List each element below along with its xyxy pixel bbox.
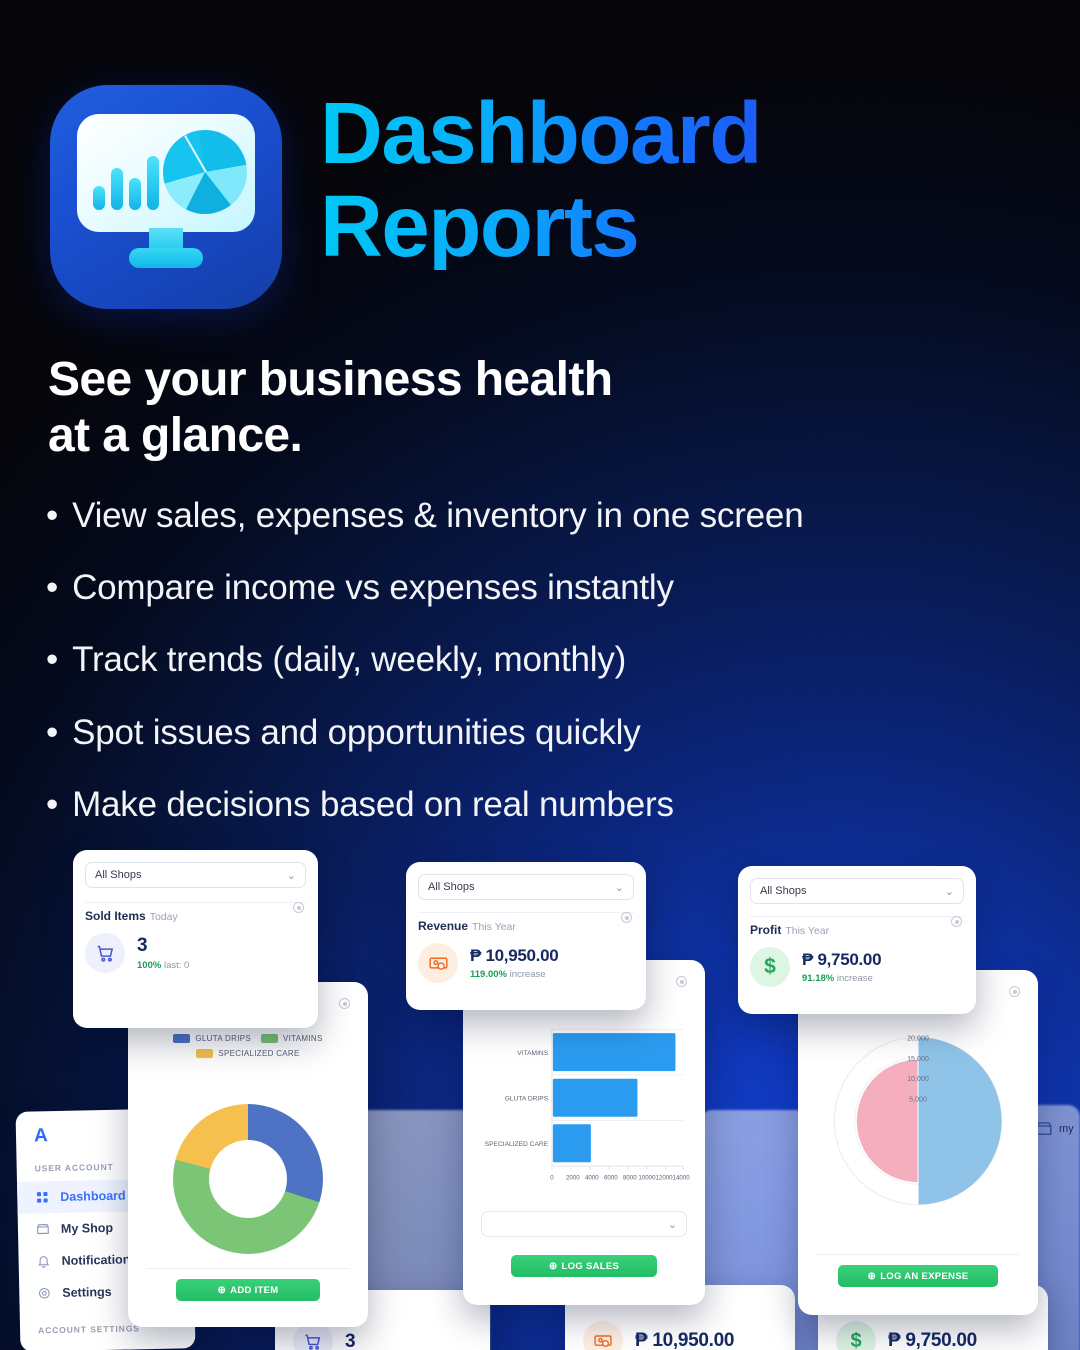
- bullet-text: Compare income vs expenses instantly: [72, 568, 674, 607]
- bullet-marker: •: [46, 785, 58, 824]
- stat-change: 119.00% increase: [470, 969, 558, 980]
- bullet-marker: •: [46, 713, 58, 752]
- svg-text:0: 0: [550, 1174, 554, 1181]
- shop-select-value: All Shops: [760, 885, 806, 897]
- stat-period: This Year: [785, 925, 829, 937]
- stat-card-sold-items[interactable]: All Shops ⌄ Sold ItemsToday 3: [73, 850, 318, 1028]
- chevron-down-icon: ⌄: [287, 869, 296, 882]
- horizontal-bar-chart: VITAMINS GLUTA DRIPS SPECIALIZED CARE 02…: [475, 1016, 703, 1206]
- svg-text:12000: 12000: [655, 1174, 673, 1181]
- category-donut-card[interactable]: GLUTA DRIPS VITAMINS SPECIALIZED CARE ⊕ …: [128, 982, 368, 1327]
- gear-icon[interactable]: [621, 912, 632, 923]
- svg-text:14000: 14000: [673, 1174, 691, 1181]
- svg-text:20,000: 20,000: [907, 1034, 929, 1042]
- dashboard-monitor-icon: [50, 85, 282, 309]
- stat-label: Sold Items: [85, 909, 146, 923]
- grid-icon: [35, 1190, 49, 1204]
- page-headline: See your business health at a glance.: [48, 352, 612, 464]
- bar-category-label: SPECIALIZED CARE: [485, 1141, 549, 1148]
- stat-value: 3: [137, 935, 189, 957]
- gear-icon[interactable]: [1009, 986, 1020, 997]
- donut-legend: GLUTA DRIPS VITAMINS SPECIALIZED CARE: [138, 1034, 358, 1058]
- svg-text:10,000: 10,000: [907, 1075, 929, 1083]
- banknote-icon: [593, 1331, 613, 1350]
- feature-bullet-list: • View sales, expenses & inventory in on…: [46, 496, 1036, 857]
- list-item: • View sales, expenses & inventory in on…: [46, 496, 1036, 535]
- gear-icon[interactable]: [293, 902, 304, 913]
- stat-change-pct: 100%: [137, 960, 161, 971]
- bullet-marker: •: [46, 640, 58, 679]
- bullet-text: Track trends (daily, weekly, monthly): [72, 640, 626, 679]
- add-item-button[interactable]: ⊕ ADD ITEM: [176, 1279, 320, 1301]
- expense-polar-chart-card[interactable]: labor material 20,000 15,000 10,000: [798, 970, 1038, 1315]
- stat-label: Profit: [750, 923, 781, 937]
- dollar-sign-icon: $: [764, 955, 776, 979]
- shopping-cart-icon: [303, 1332, 323, 1350]
- stat-card-revenue[interactable]: All Shops ⌄ RevenueThis Year ₱ 10,950.00: [406, 862, 646, 1010]
- legend-label: SPECIALIZED CARE: [218, 1049, 299, 1058]
- log-expense-button[interactable]: ⊕ LOG AN EXPENSE: [838, 1265, 998, 1287]
- bullet-marker: •: [46, 568, 58, 607]
- shopping-cart-icon: [95, 943, 116, 964]
- bullet-text: View sales, expenses & inventory in one …: [72, 496, 803, 535]
- shop-select-sold-items[interactable]: All Shops ⌄: [85, 862, 306, 888]
- plus-icon: ⊕: [217, 1285, 226, 1296]
- bar-chart-glyph: [93, 156, 159, 210]
- sidebar-item-label: Settings: [62, 1285, 112, 1300]
- list-item: • Compare income vs expenses instantly: [46, 568, 1036, 607]
- stat-change: 91.18% increase: [802, 973, 881, 984]
- list-item: • Track trends (daily, weekly, monthly): [46, 640, 1036, 679]
- divider: [750, 916, 964, 917]
- donut-chart: [173, 1104, 323, 1254]
- stat-value: ₱ 9,750.00: [888, 1330, 977, 1350]
- stat-card-profit[interactable]: All Shops ⌄ ProfitThis Year $ ₱ 9,750.00…: [738, 866, 976, 1014]
- legend-item: GLUTA DRIPS: [173, 1034, 251, 1043]
- headline-line-2: at a glance.: [48, 408, 612, 464]
- stat-value: ₱ 10,950.00: [635, 1330, 734, 1350]
- gear-icon[interactable]: [951, 916, 962, 927]
- svg-text:2000: 2000: [566, 1174, 580, 1181]
- monitor-base: [129, 248, 203, 268]
- bar-axis-ticks: 020004000 6000800010000 1200014000: [550, 1174, 690, 1181]
- stat-change-note: last: 0: [164, 960, 189, 971]
- title-line-1: Dashboard: [320, 91, 761, 176]
- list-item: • Make decisions based on real numbers: [46, 785, 1036, 824]
- brand-header: Dashboard Reports: [50, 85, 761, 309]
- legend-item: VITAMINS: [261, 1034, 323, 1043]
- chart-filter-select[interactable]: ⌄: [481, 1211, 687, 1237]
- list-item: • Spot issues and opportunities quickly: [46, 713, 1036, 752]
- store-icon: [36, 1222, 50, 1236]
- shop-chip-label: my: [1059, 1123, 1074, 1135]
- plus-icon: ⊕: [868, 1271, 877, 1282]
- shop-select-value: All Shops: [95, 869, 141, 881]
- shop-select-profit[interactable]: All Shops ⌄: [750, 878, 964, 904]
- legend-item: SPECIALIZED CARE: [196, 1049, 299, 1058]
- brand-titles: Dashboard Reports: [320, 91, 761, 270]
- divider: [85, 902, 306, 903]
- chevron-down-icon: ⌄: [668, 1218, 677, 1231]
- dollar-sign-icon: $: [850, 1330, 861, 1350]
- stat-card-title: Sold ItemsToday: [85, 909, 306, 923]
- legend-label: VITAMINS: [283, 1034, 323, 1043]
- gear-icon[interactable]: [676, 976, 687, 987]
- add-item-label: ADD ITEM: [230, 1285, 278, 1296]
- bullet-marker: •: [46, 496, 58, 535]
- stat-card-title: RevenueThis Year: [418, 919, 634, 933]
- plus-icon: ⊕: [549, 1261, 558, 1272]
- stat-value: ₱ 9,750.00: [802, 950, 881, 970]
- divider: [146, 1268, 350, 1269]
- polar-area-chart: 20,000 15,000 10,000 5,000: [816, 1024, 1020, 1218]
- svg-text:15,000: 15,000: [907, 1055, 929, 1063]
- bar-category-label: GLUTA DRIPS: [505, 1096, 549, 1103]
- bell-icon: [36, 1254, 50, 1268]
- banknote-icon: [428, 953, 449, 974]
- svg-text:5,000: 5,000: [909, 1096, 927, 1104]
- stat-value: 3: [345, 1331, 355, 1350]
- shop-select-revenue[interactable]: All Shops ⌄: [418, 874, 634, 900]
- shop-select-value: All Shops: [428, 881, 474, 893]
- pie-chart-glyph: [163, 130, 247, 214]
- stat-change-note: increase: [510, 969, 546, 980]
- stat-change: 100% last: 0: [137, 960, 189, 971]
- log-expense-label: LOG AN EXPENSE: [880, 1271, 968, 1282]
- svg-text:6000: 6000: [604, 1174, 618, 1181]
- sidebar-item-label: My Shop: [61, 1221, 113, 1236]
- gear-icon[interactable]: [339, 998, 350, 1009]
- stat-change-pct: 91.18%: [802, 973, 834, 984]
- sidebar-item-label: Dashboard: [60, 1189, 126, 1204]
- svg-text:10000: 10000: [638, 1174, 656, 1181]
- bullet-text: Make decisions based on real numbers: [72, 785, 674, 824]
- dashboard-screenshot-collage: day 3: [0, 830, 1080, 1350]
- stat-value: ₱ 10,950.00: [470, 946, 558, 966]
- stat-change-note: increase: [837, 973, 873, 984]
- stat-change-pct: 119.00%: [470, 969, 507, 980]
- bar-category-label: VITAMINS: [517, 1050, 548, 1057]
- divider: [816, 1254, 1020, 1255]
- stat-label: Revenue: [418, 919, 468, 933]
- shop-chip[interactable]: my: [1035, 1120, 1074, 1138]
- bullet-text: Spot issues and opportunities quickly: [72, 713, 641, 752]
- divider: [418, 912, 634, 913]
- log-sales-button[interactable]: ⊕ LOG SALES: [511, 1255, 657, 1277]
- log-sales-label: LOG SALES: [562, 1261, 620, 1272]
- stat-period: Today: [150, 911, 178, 923]
- sales-bar-chart-card[interactable]: VITAMINS GLUTA DRIPS SPECIALIZED CARE 02…: [463, 960, 705, 1305]
- svg-text:4000: 4000: [585, 1174, 599, 1181]
- svg-text:8000: 8000: [623, 1174, 637, 1181]
- stat-card-title: ProfitThis Year: [750, 923, 964, 937]
- title-line-2: Reports: [320, 184, 761, 269]
- headline-line-1: See your business health: [48, 352, 612, 408]
- gear-icon: [37, 1286, 51, 1300]
- stat-period: This Year: [472, 921, 516, 933]
- sidebar-item-label: Notifications: [61, 1252, 137, 1268]
- chevron-down-icon: ⌄: [945, 885, 954, 898]
- chevron-down-icon: ⌄: [615, 881, 624, 894]
- legend-label: GLUTA DRIPS: [195, 1034, 251, 1043]
